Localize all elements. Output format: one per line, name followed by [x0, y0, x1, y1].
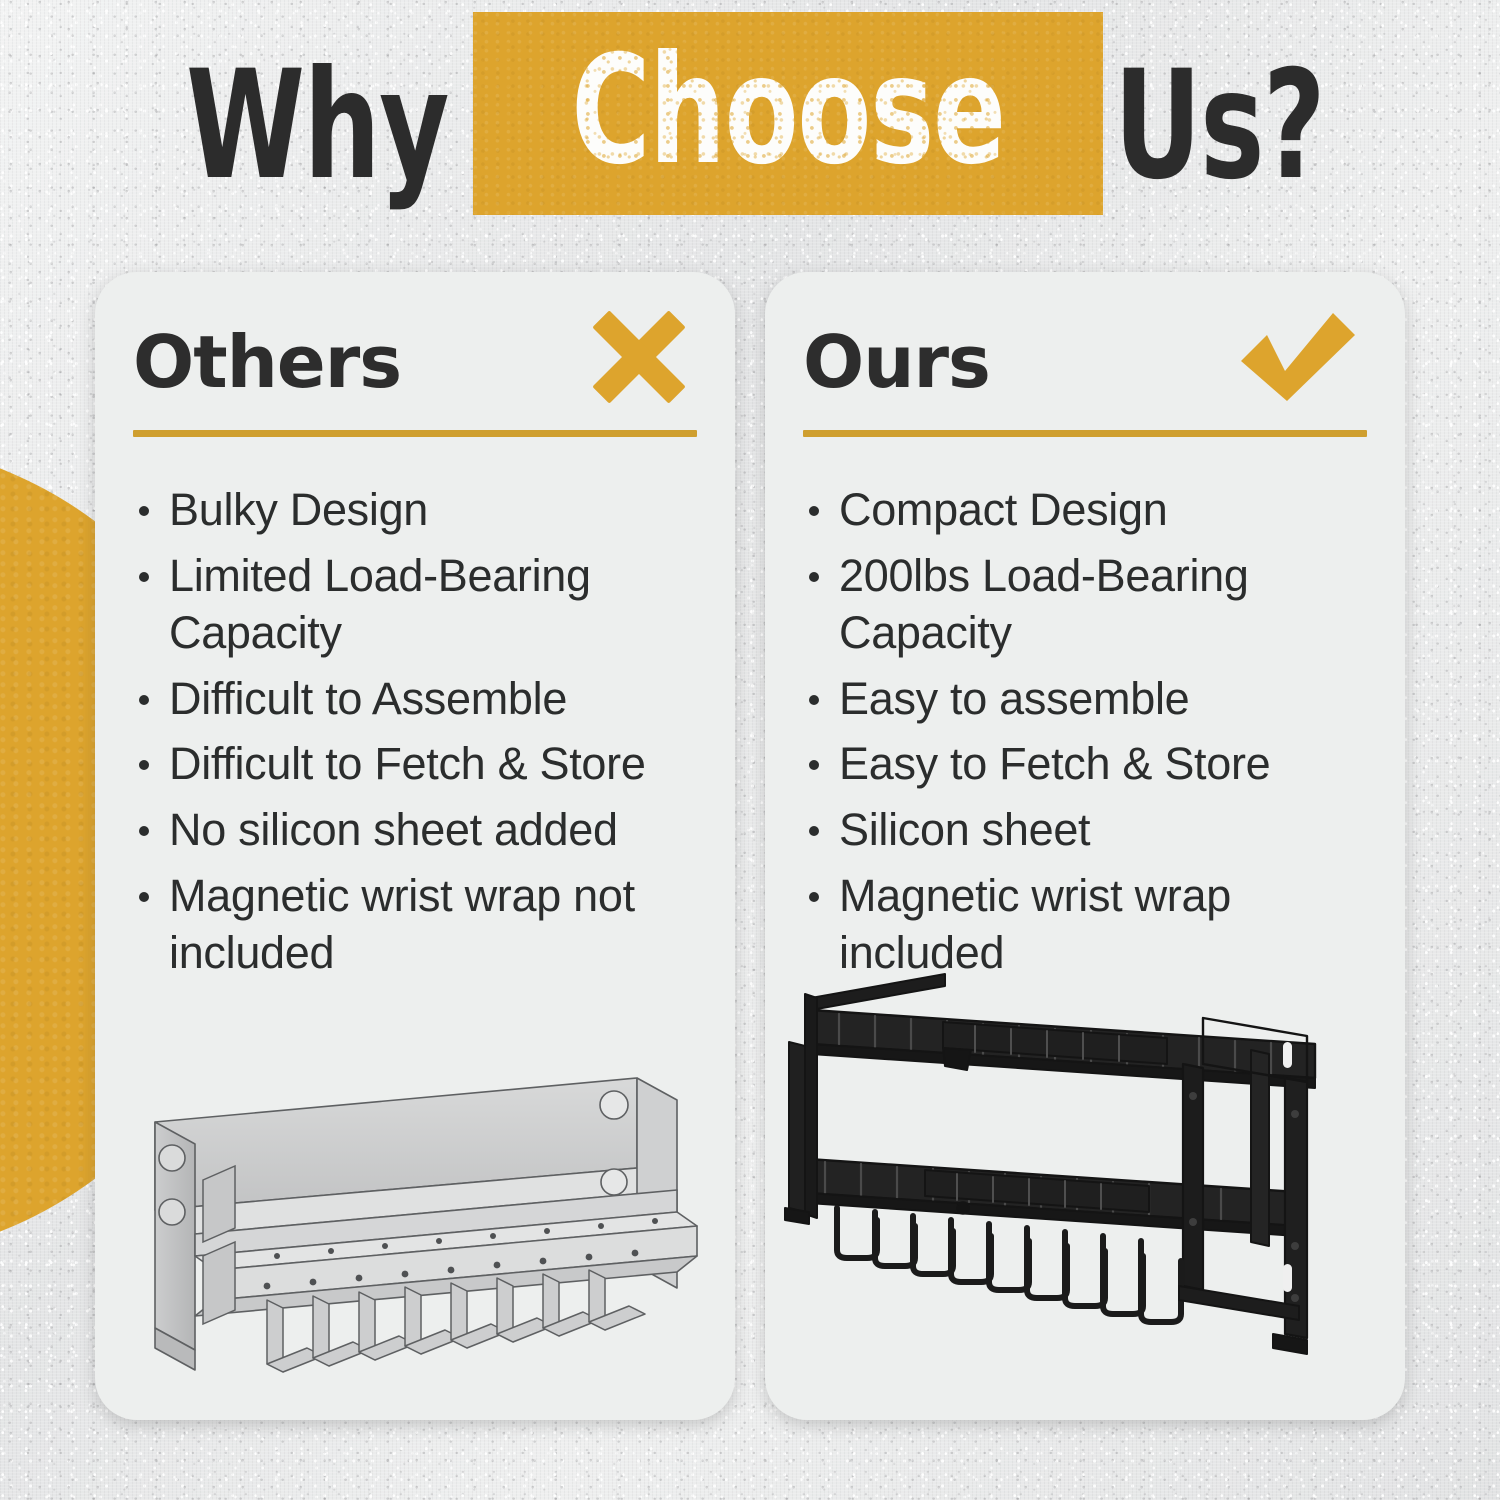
- card-divider-others: [133, 430, 697, 437]
- card-title-others: Others: [133, 326, 401, 398]
- list-item: Difficult to Assemble: [129, 670, 699, 728]
- headline-word-us: Us?: [1114, 57, 1324, 215]
- page-title: Why Choose Us?: [0, 0, 1500, 215]
- headline-word-why: Why: [186, 57, 448, 215]
- card-divider-ours: [803, 430, 1367, 437]
- feature-list-others: Bulky Design Limited Load-Bearing Capaci…: [129, 481, 699, 982]
- check-icon: [1237, 309, 1359, 410]
- product-image-others: [117, 1060, 717, 1410]
- list-item: Limited Load-Bearing Capacity: [129, 547, 699, 662]
- card-header-others: Others: [133, 272, 697, 430]
- list-item: 200lbs Load-Bearing Capacity: [799, 547, 1369, 662]
- list-item: Easy to assemble: [799, 670, 1369, 728]
- list-item: Bulky Design: [129, 481, 699, 539]
- headline-highlight-block: Choose: [473, 12, 1103, 215]
- list-item: No silicon sheet added: [129, 801, 699, 859]
- card-header-ours: Ours: [803, 272, 1367, 430]
- comparison-card-ours: Ours Compact Design 200lbs Load-Bearing …: [765, 272, 1405, 1420]
- list-item: Magnetic wrist wrap not included: [129, 867, 699, 982]
- product-image-ours: [775, 946, 1405, 1406]
- headline-word-choose: Choose: [571, 42, 1004, 186]
- card-title-ours: Ours: [803, 326, 990, 398]
- cross-icon: [589, 309, 689, 410]
- feature-list-ours: Compact Design 200lbs Load-Bearing Capac…: [799, 481, 1369, 982]
- list-item: Difficult to Fetch & Store: [129, 735, 699, 793]
- list-item: Silicon sheet: [799, 801, 1369, 859]
- list-item: Easy to Fetch & Store: [799, 735, 1369, 793]
- comparison-card-others: Others Bulky Design Limited Load-Bearing…: [95, 272, 735, 1420]
- list-item: Compact Design: [799, 481, 1369, 539]
